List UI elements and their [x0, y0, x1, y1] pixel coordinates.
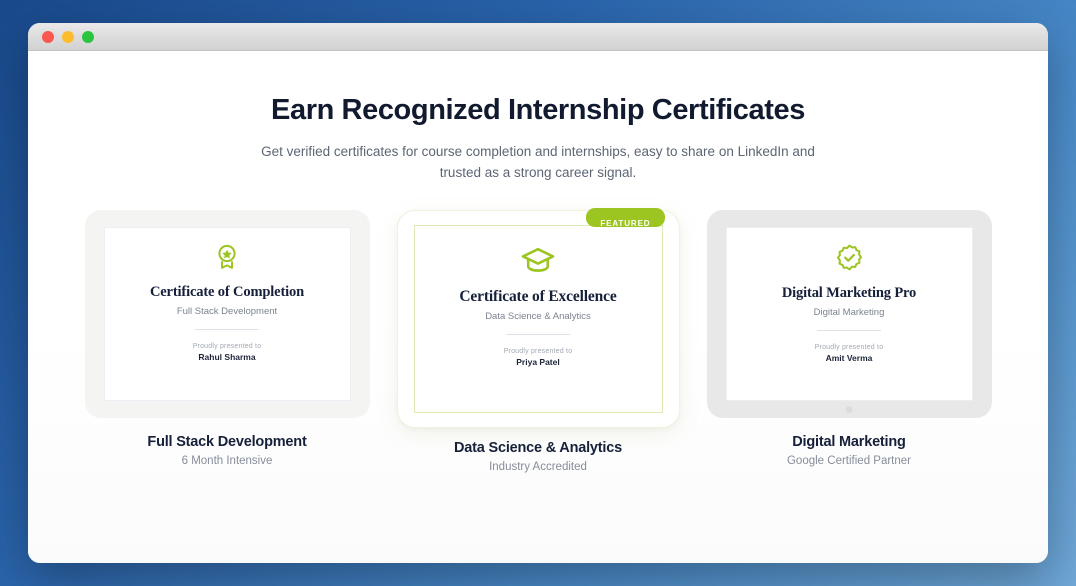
- graduation-cap-icon: [521, 246, 555, 279]
- device-frame: Digital Marketing Pro Digital Marketing …: [707, 210, 992, 418]
- page-title: Earn Recognized Internship Certificates: [68, 93, 1008, 128]
- page-subtitle: Get verified certificates for course com…: [248, 142, 828, 184]
- award-ribbon-icon: [215, 244, 239, 275]
- certificate-course: Digital Marketing: [814, 307, 885, 318]
- recipient-name: Priya Patel: [516, 357, 559, 367]
- recipient-name: Amit Verma: [826, 353, 873, 363]
- certificate-title: Certificate of Completion: [150, 284, 304, 301]
- certificate-paper: Certificate of Excellence Data Science &…: [414, 225, 663, 413]
- card-caption-title: Digital Marketing: [792, 434, 905, 450]
- browser-window: Earn Recognized Internship Certificates …: [28, 23, 1048, 563]
- close-button[interactable]: [42, 31, 54, 43]
- minimize-button[interactable]: [62, 31, 74, 43]
- card-caption-meta: Industry Accredited: [489, 461, 587, 473]
- featured-badge: FEATURED: [586, 208, 664, 227]
- card-caption-meta: 6 Month Intensive: [182, 455, 273, 467]
- certificate-paper: Digital Marketing Pro Digital Marketing …: [726, 227, 973, 401]
- certificate-cards-row: Certificate of Completion Full Stack Dev…: [68, 210, 1008, 473]
- device-home-indicator: [846, 406, 853, 413]
- certificate-card-full-stack[interactable]: Certificate of Completion Full Stack Dev…: [85, 210, 370, 467]
- presented-label: Proudly presented to: [504, 348, 573, 355]
- certificate-title: Digital Marketing Pro: [782, 285, 916, 302]
- certificate-course: Data Science & Analytics: [485, 311, 591, 322]
- card-caption-title: Full Stack Development: [147, 434, 306, 450]
- certificate-card-digital-marketing[interactable]: Digital Marketing Pro Digital Marketing …: [707, 210, 992, 467]
- card-caption-title: Data Science & Analytics: [454, 440, 622, 456]
- certificate-card-data-science[interactable]: FEATURED Certificate of Excellence Data …: [396, 210, 681, 473]
- card-caption-meta: Google Certified Partner: [787, 455, 911, 467]
- certificate-title: Certificate of Excellence: [459, 288, 616, 306]
- divider: [506, 334, 570, 335]
- presented-label: Proudly presented to: [193, 343, 262, 350]
- certificate-course: Full Stack Development: [177, 306, 277, 317]
- divider: [817, 330, 881, 331]
- zoom-button[interactable]: [82, 31, 94, 43]
- verified-badge-icon: [836, 244, 863, 276]
- presented-label: Proudly presented to: [815, 344, 884, 351]
- page-content: Earn Recognized Internship Certificates …: [28, 51, 1048, 563]
- certificate-paper: Certificate of Completion Full Stack Dev…: [104, 227, 351, 401]
- device-frame-featured: FEATURED Certificate of Excellence Data …: [397, 210, 680, 428]
- window-title-bar: [28, 23, 1048, 51]
- device-frame: Certificate of Completion Full Stack Dev…: [85, 210, 370, 418]
- recipient-name: Rahul Sharma: [198, 352, 255, 362]
- divider: [195, 329, 259, 330]
